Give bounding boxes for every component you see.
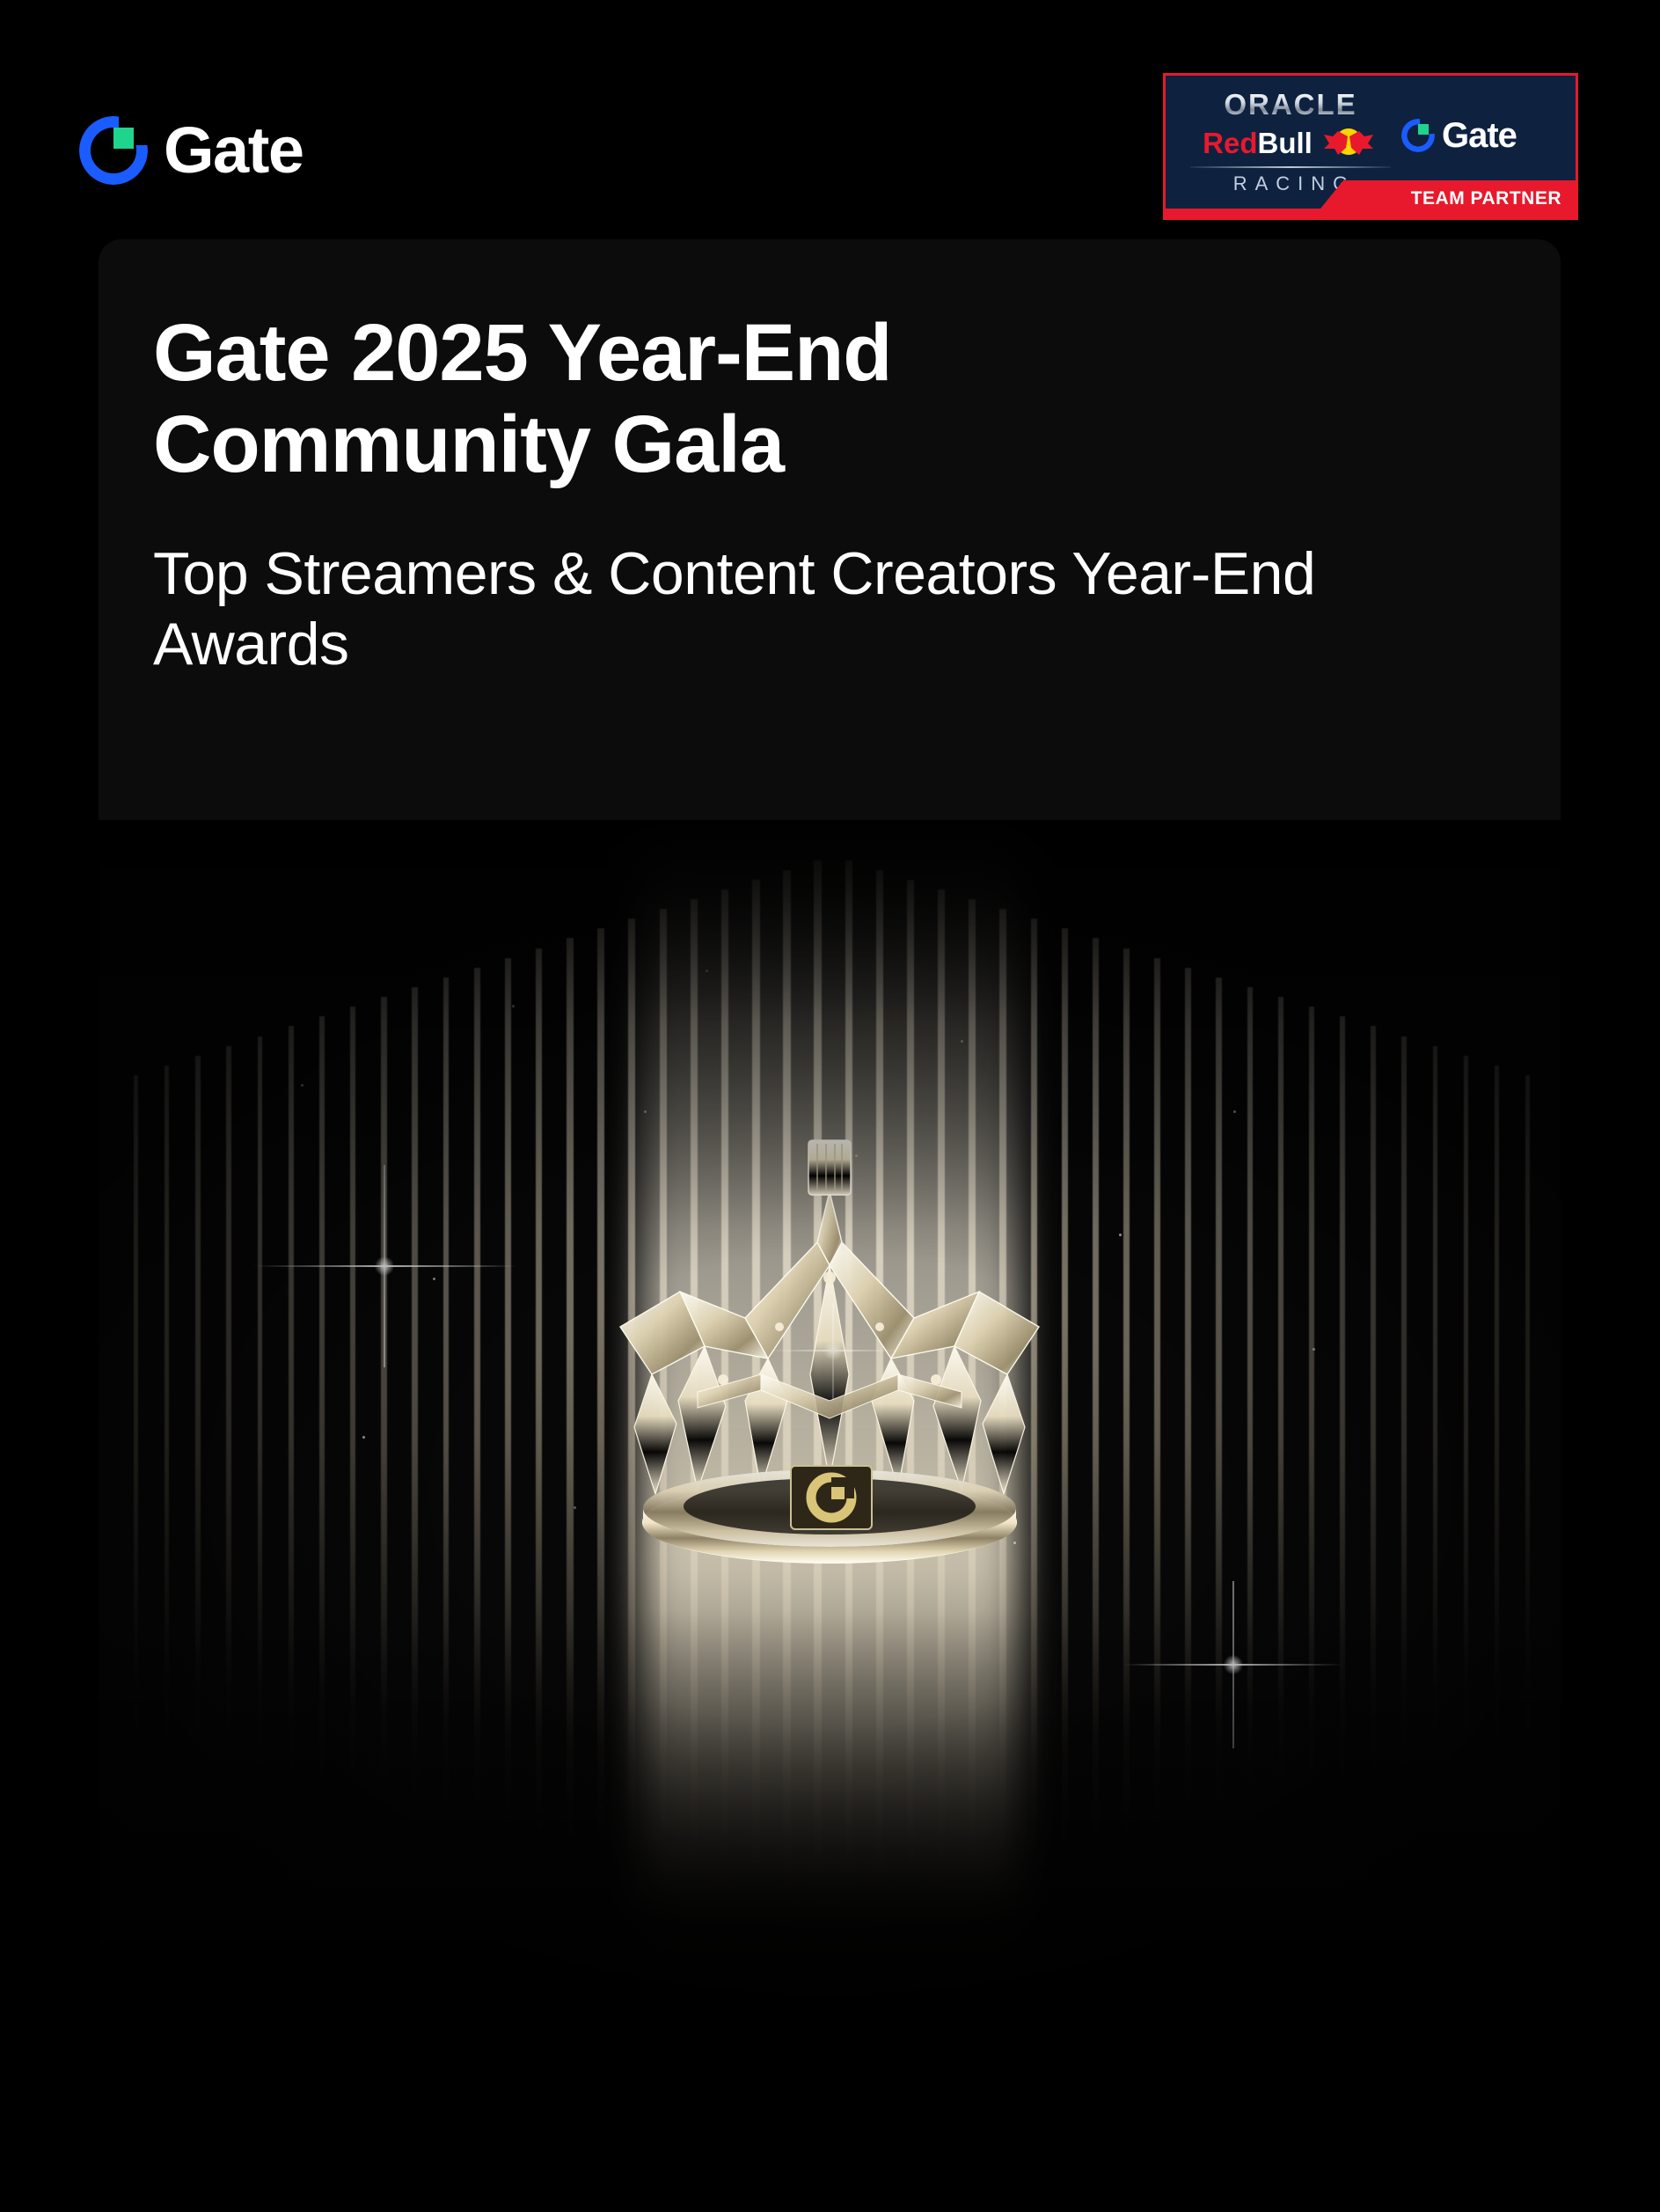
red-bull-row: RedBull [1188, 123, 1393, 162]
red-bull-bulls-icon [1319, 126, 1378, 159]
red-bull-wordmark: RedBull [1203, 128, 1313, 157]
badge-gate-name: Gate [1442, 118, 1517, 153]
badge-gate-logo: Gate [1401, 118, 1517, 153]
badge-divider [1190, 166, 1391, 168]
page-title: Gate 2025 Year-End Community Gala [153, 308, 1253, 491]
gate-brand-logo[interactable]: Gate [79, 116, 303, 185]
red-bull-racing-lockup: ORACLE RedBull RACING [1188, 90, 1393, 194]
team-partner-label: TEAM PARTNER [1411, 188, 1561, 209]
hero-crown-image [99, 820, 1561, 2017]
gate-logo-icon [79, 116, 148, 185]
gate-logo-icon [1401, 119, 1435, 152]
image-vignette [99, 820, 1561, 2017]
page-header: Gate ORACLE RedBull RACING [0, 0, 1660, 239]
gate-brand-name: Gate [164, 118, 303, 183]
oracle-wordmark: ORACLE [1188, 90, 1393, 119]
oracle-red-bull-racing-team-partner-badge[interactable]: ORACLE RedBull RACING [1163, 73, 1578, 220]
badge-bottom-strip [1166, 209, 1576, 217]
event-card: Gate 2025 Year-End Community Gala Top St… [99, 239, 1561, 2017]
card-text-block: Gate 2025 Year-End Community Gala Top St… [99, 239, 1561, 679]
page-subtitle: Top Streamers & Content Creators Year-En… [153, 538, 1402, 679]
promo-page: Gate ORACLE RedBull RACING [0, 0, 1660, 2212]
